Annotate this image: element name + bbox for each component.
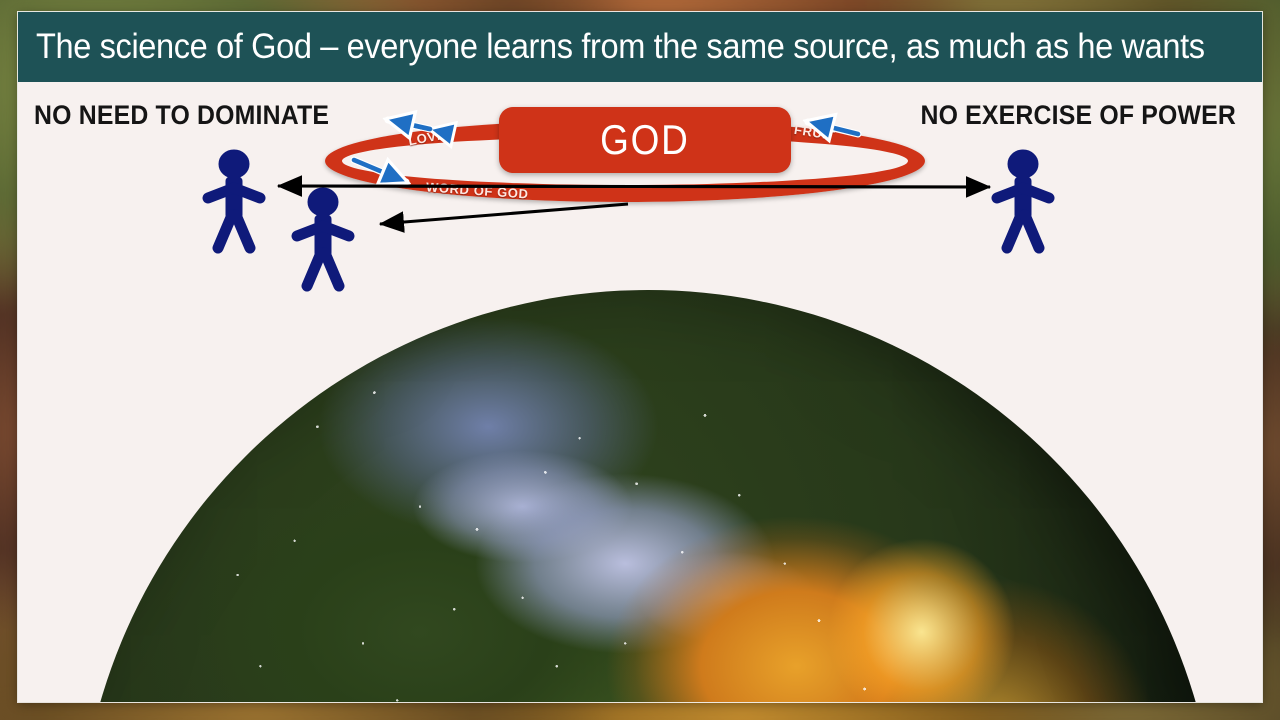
person-left-upper-icon [208, 150, 260, 248]
globe-speckles [78, 290, 1218, 702]
page-title: The science of God – everyone learns fro… [36, 27, 1205, 67]
title-bar: The science of God – everyone learns fro… [18, 12, 1262, 82]
slide-content-card: The science of God – everyone learns fro… [18, 12, 1262, 702]
slide-root: The science of God – everyone learns fro… [0, 0, 1280, 720]
person-left-lower-icon [297, 188, 349, 286]
blue-arrow-love-icon [388, 120, 433, 130]
heading-no-exercise-of-power: NO EXERCISE OF POWER [920, 100, 1236, 131]
earth-globe [18, 282, 1262, 702]
person-right-icon [997, 150, 1049, 248]
connector-diagonal-arrow [380, 204, 628, 224]
god-node-label: GOD [600, 116, 689, 164]
god-node-box: GOD [499, 107, 791, 173]
heading-no-need-to-dominate: NO NEED TO DOMINATE [34, 100, 329, 131]
globe-sphere [78, 290, 1218, 702]
